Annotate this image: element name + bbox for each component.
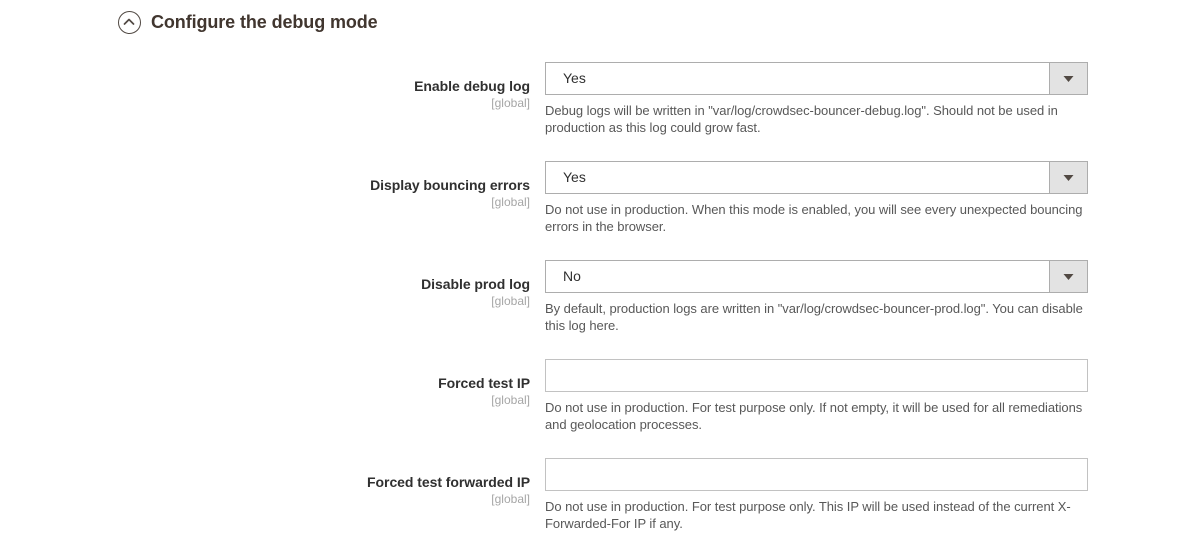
chevron-down-icon[interactable] (1049, 63, 1087, 94)
field-label-forced-test-ip: Forced test IP (0, 359, 530, 392)
select-value-display-bouncing-errors: Yes (546, 162, 1049, 193)
row-spacer (0, 334, 1200, 359)
forced-test-forwarded-ip-input[interactable] (545, 458, 1088, 491)
field-label-box: Display bouncing errors [global] (0, 161, 530, 210)
field-label-box: Enable debug log [global] (0, 62, 530, 111)
field-row-disable-prod-log: Disable prod log [global] No By default,… (0, 260, 1200, 334)
field-scope-enable-debug-log: [global] (0, 95, 530, 111)
field-note-forced-test-forwarded-ip: Do not use in production. For test purpo… (545, 499, 1090, 532)
field-label-enable-debug-log: Enable debug log (0, 62, 530, 95)
field-control-disable-prod-log: No (545, 260, 1088, 293)
field-row-display-bouncing-errors: Display bouncing errors [global] Yes Do … (0, 161, 1200, 235)
field-scope-disable-prod-log: [global] (0, 293, 530, 309)
row-spacer (0, 235, 1200, 260)
field-note-disable-prod-log: By default, production logs are written … (545, 301, 1090, 334)
field-label-box: Forced test IP [global] (0, 359, 530, 408)
field-control-display-bouncing-errors: Yes (545, 161, 1088, 194)
field-label-box: Disable prod log [global] (0, 260, 530, 309)
chevron-down-icon[interactable] (1049, 261, 1087, 292)
select-value-disable-prod-log: No (546, 261, 1049, 292)
field-label-box: Forced test forwarded IP [global] (0, 458, 530, 507)
field-note-display-bouncing-errors: Do not use in production. When this mode… (545, 202, 1090, 235)
select-value-enable-debug-log: Yes (546, 63, 1049, 94)
field-note-enable-debug-log: Debug logs will be written in "var/log/c… (545, 103, 1090, 136)
field-scope-display-bouncing-errors: [global] (0, 194, 530, 210)
field-label-forced-test-forwarded-ip: Forced test forwarded IP (0, 458, 530, 491)
field-note-forced-test-ip: Do not use in production. For test purpo… (545, 400, 1090, 433)
page-title: Configure the debug mode (151, 11, 378, 34)
row-spacer (0, 136, 1200, 161)
field-row-enable-debug-log: Enable debug log [global] Yes Debug logs… (0, 62, 1200, 136)
field-row-forced-test-forwarded-ip: Forced test forwarded IP [global] Do not… (0, 458, 1200, 532)
field-label-disable-prod-log: Disable prod log (0, 260, 530, 293)
field-scope-forced-test-ip: [global] (0, 392, 530, 408)
chevron-up-circle-icon[interactable] (118, 11, 141, 34)
field-row-forced-test-ip: Forced test IP [global] Do not use in pr… (0, 359, 1200, 433)
section-header[interactable]: Configure the debug mode (118, 11, 378, 34)
field-scope-forced-test-forwarded-ip: [global] (0, 491, 530, 507)
forced-test-ip-input[interactable] (545, 359, 1088, 392)
field-label-display-bouncing-errors: Display bouncing errors (0, 161, 530, 194)
select-enable-debug-log[interactable]: Yes (545, 62, 1088, 95)
debug-mode-fieldset: Enable debug log [global] Yes Debug logs… (0, 62, 1200, 532)
select-disable-prod-log[interactable]: No (545, 260, 1088, 293)
chevron-down-icon[interactable] (1049, 162, 1087, 193)
debug-mode-config-page: Configure the debug mode Enable debug lo… (0, 0, 1200, 560)
field-control-enable-debug-log: Yes (545, 62, 1088, 95)
field-control-forced-test-forwarded-ip (545, 458, 1088, 491)
select-display-bouncing-errors[interactable]: Yes (545, 161, 1088, 194)
row-spacer (0, 433, 1200, 458)
field-control-forced-test-ip (545, 359, 1088, 392)
